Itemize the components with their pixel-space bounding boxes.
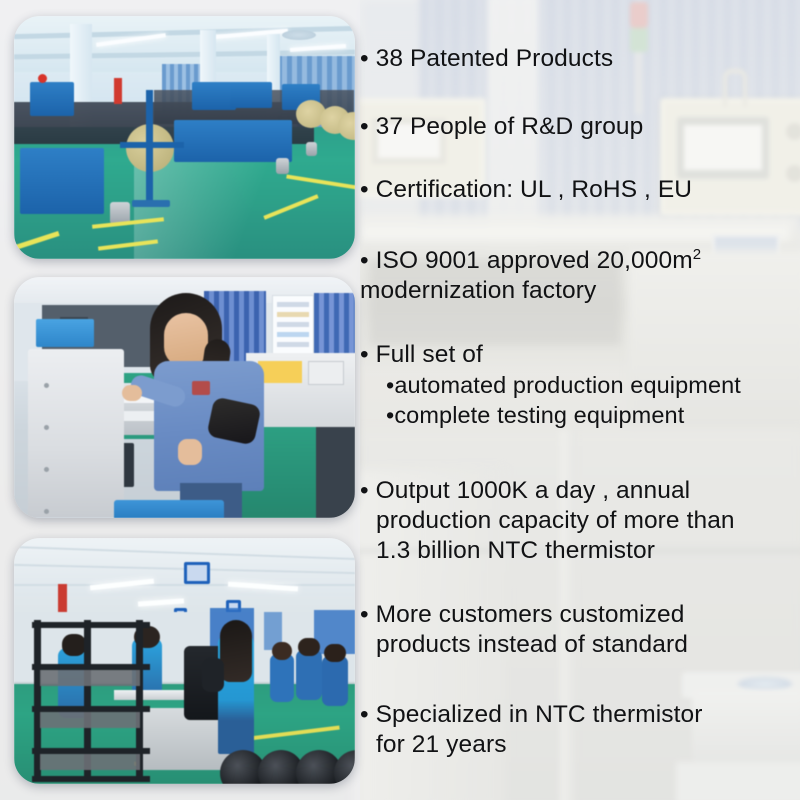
bullet-line: modernization factory bbox=[360, 276, 800, 306]
photo3-blue-sign-1 bbox=[184, 562, 210, 584]
bullet-line: products instead of standard bbox=[360, 630, 800, 660]
photo-assembly-line-workers bbox=[14, 538, 355, 784]
photo1-reel-2 bbox=[276, 158, 289, 174]
bullet-specialized-ntc: Specialized in NTC thermistor for 21 yea… bbox=[360, 700, 800, 760]
photo2-blue-crate-top bbox=[36, 319, 94, 347]
bullet-full-set: Full set of automated production equipme… bbox=[360, 340, 800, 430]
photo2-worker-badge bbox=[192, 381, 210, 395]
photo1-reel-3 bbox=[306, 142, 317, 156]
photo2-worker-hand-left bbox=[122, 385, 142, 401]
photo2-notice-board bbox=[272, 295, 314, 359]
photo3-worker-6-head bbox=[324, 644, 346, 662]
photo1-alarm-light bbox=[38, 74, 47, 83]
photo-operator-at-machine bbox=[14, 277, 355, 518]
bullet-line: 37 People of R&D group bbox=[360, 112, 800, 142]
sub-bullet-line: automated production equipment bbox=[360, 370, 800, 400]
photo1-blue-stand-bar bbox=[120, 142, 184, 148]
bullet-output-capacity: Output 1000K a day , annual production c… bbox=[360, 476, 800, 566]
photo3-content bbox=[14, 538, 355, 784]
photo1-blue-machine-1 bbox=[20, 148, 104, 214]
bullet-certification: Certification: UL , RoHS , EU bbox=[360, 175, 800, 205]
iso-unit: m bbox=[672, 247, 693, 274]
bullet-customized-products: More customers customized products inste… bbox=[360, 600, 800, 660]
photo3-worker-5 bbox=[296, 650, 322, 700]
bullet-line: Output 1000K a day , annual bbox=[360, 476, 800, 506]
bullet-rd-group: 37 People of R&D group bbox=[360, 112, 800, 142]
photo1-blue-machine-2 bbox=[30, 82, 74, 116]
slide-canvas: 38 Patented Products 37 People of R&D gr… bbox=[0, 0, 800, 800]
photo3-worker-6 bbox=[322, 656, 348, 706]
photo3-steel-rack bbox=[32, 620, 150, 782]
bullet-line: ISO 9001 approved 20,000m2 bbox=[360, 246, 800, 276]
bullet-line: 1.3 billion NTC thermistor bbox=[360, 536, 800, 566]
sub-bullet-line: complete testing equipment bbox=[360, 400, 800, 430]
photo2-control-yellow bbox=[258, 361, 302, 383]
photo3-worker-4-head bbox=[272, 642, 292, 660]
photo2-content bbox=[14, 277, 355, 518]
bullet-line: 38 Patented Products bbox=[360, 44, 800, 74]
photo1-fire-extinguisher bbox=[114, 78, 122, 104]
bullet-patented-products: 38 Patented Products bbox=[360, 44, 800, 74]
photo3-worker-5-head bbox=[298, 638, 320, 656]
photo1-blue-machine-3 bbox=[174, 120, 292, 162]
bullet-text-column: 38 Patented Products 37 People of R&D gr… bbox=[360, 0, 800, 800]
iso-unit-superscript: 2 bbox=[693, 246, 701, 263]
photo3-cable-spools bbox=[220, 744, 355, 784]
photo2-main-machine bbox=[28, 349, 124, 517]
bullet-line: Specialized in NTC thermistor bbox=[360, 700, 800, 730]
photo2-worker-face bbox=[164, 313, 208, 367]
photo2-control-panel bbox=[308, 361, 344, 385]
bullet-line: for 21 years bbox=[360, 730, 800, 760]
photo1-blue-machine-5 bbox=[230, 82, 272, 108]
photo1-content bbox=[14, 16, 355, 259]
photo2-worker-hand-right bbox=[178, 439, 202, 465]
photo1-stand-base bbox=[132, 200, 170, 207]
bullet-line: Certification: UL , RoHS , EU bbox=[360, 175, 800, 205]
bullet-iso-factory: ISO 9001 approved 20,000m2 modernization… bbox=[360, 246, 800, 306]
bullet-line: Full set of bbox=[360, 340, 800, 370]
photo2-blue-crate-bottom bbox=[114, 500, 224, 518]
iso-text-prefix: ISO 9001 approved 20,000 bbox=[376, 247, 673, 274]
photo-factory-production-line bbox=[14, 16, 355, 259]
photo2-dark-machine-right bbox=[316, 427, 355, 518]
bullet-line: production capacity of more than bbox=[360, 506, 800, 536]
photo1-ceiling-fan bbox=[282, 30, 316, 40]
photo3-worker-4 bbox=[270, 654, 294, 702]
bullet-line: More customers customized bbox=[360, 600, 800, 630]
photo3-worker-1-hair bbox=[220, 620, 252, 682]
photo3-worker-1-arm bbox=[202, 658, 224, 692]
